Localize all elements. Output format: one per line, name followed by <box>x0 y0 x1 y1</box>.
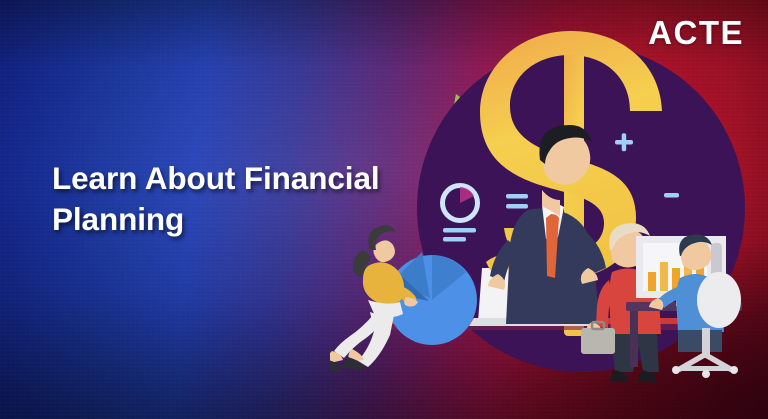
woman-pushing-pie <box>330 225 418 372</box>
minus-symbol <box>664 193 679 198</box>
acte-logo: ACTE <box>648 16 744 49</box>
office-chair <box>697 272 741 328</box>
briefcase-icon <box>581 328 615 354</box>
page-title: Learn About Financial Planning <box>52 158 452 239</box>
promo-banner: Learn About Financial Planning ACTE <box>0 0 768 419</box>
